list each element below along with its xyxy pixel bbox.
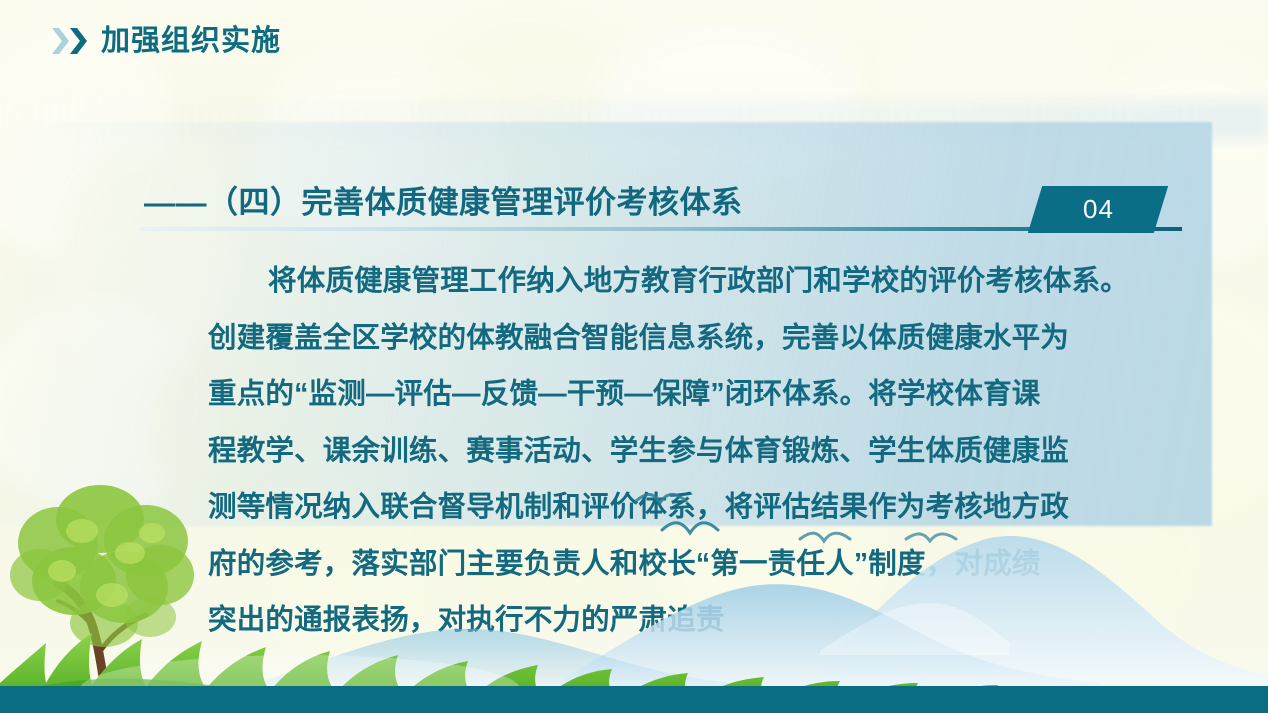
body-line: 重点的“监测—评估—反馈—干预—保障”闭环体系。将学校体育课 — [208, 366, 1218, 423]
body-line: 将体质健康管理工作纳入地方教育行政部门和学校的评价考核体系。 — [208, 253, 1218, 310]
bottom-scenery-illustration — [0, 483, 1268, 713]
footer-bar — [0, 686, 1268, 713]
chevron-right-icon-dark — [70, 26, 87, 56]
header-title: 加强组织实施 — [101, 27, 281, 56]
double-chevron-icon — [52, 26, 87, 56]
section-number-label: 04 — [1083, 194, 1114, 225]
slide-canvas: 加强组织实施 ——（四）完善体质健康管理评价考核体系 04 将体质健康管理工作纳… — [0, 0, 1268, 713]
chevron-right-icon-light — [52, 26, 69, 56]
section-title-row: ——（四）完善体质健康管理评价考核体系 04 — [144, 182, 1174, 234]
slide-header: 加强组织实施 — [52, 26, 281, 56]
bird-flock — [636, 494, 956, 541]
section-title: ——（四）完善体质健康管理评价考核体系 — [144, 182, 743, 224]
body-line: 创建覆盖全区学校的体教融合智能信息系统，完善以体质健康水平为 — [208, 310, 1218, 367]
body-line: 程教学、课余训练、赛事活动、学生参与体育锻炼、学生体质健康监 — [208, 423, 1218, 480]
section-number-badge: 04 — [1028, 186, 1168, 233]
title-underline-rule — [140, 227, 1182, 231]
